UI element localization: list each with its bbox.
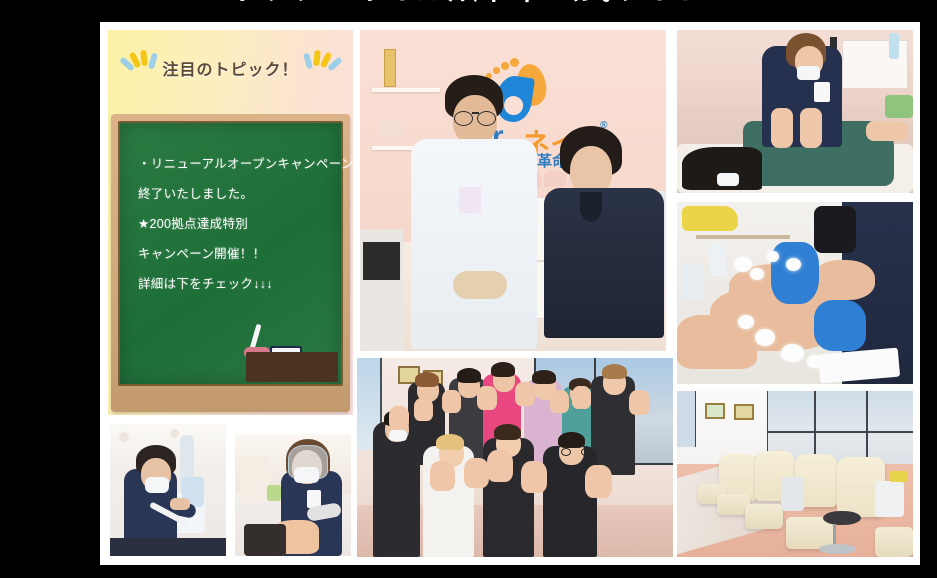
blackboard-ledge	[246, 352, 338, 382]
blackboard-line-2: 終了いたしました。	[138, 179, 331, 209]
photo-salon[interactable]	[675, 389, 915, 559]
photo-massage[interactable]	[675, 28, 915, 195]
blackboard-line-3: ★200拠点達成特別	[138, 209, 331, 239]
page-title: ドクターネイル爪革命 公式サイト	[0, 0, 937, 10]
photo-staff-portrait[interactable]: Dr. ネイル ® 爪革命	[358, 28, 668, 353]
photo-footwash[interactable]	[675, 200, 915, 386]
topic-header: 注目のトピック！	[108, 30, 353, 112]
male-staff-figure	[397, 75, 538, 351]
female-staff-nail-care-scene	[235, 434, 351, 556]
page-root: ドクターネイル爪革命 公式サイト	[0, 0, 937, 578]
featured-topic-title: 注目のトピック！	[108, 56, 353, 80]
photo-treatment-male[interactable]	[108, 422, 228, 558]
male-staff-nail-care-scene	[110, 424, 226, 556]
treatment-massage-scene	[677, 30, 913, 193]
blackboard-surface: ・リニューアルオープンキャンペーンは 終了いたしました。 ★200拠点達成特別 …	[118, 121, 343, 386]
blackboard-line-5: 詳細は下をチェック↓↓↓	[138, 269, 331, 299]
photo-group[interactable]	[355, 356, 675, 559]
foot-washing-scene	[677, 202, 913, 384]
photo-treatment-female[interactable]	[233, 432, 353, 558]
blackboard-line-1: ・リニューアルオープンキャンペーンは	[138, 149, 331, 179]
blackboard-text: ・リニューアルオープンキャンペーンは 終了いたしました。 ★200拠点達成特別 …	[138, 149, 331, 299]
clinic-entrance-scene: Dr. ネイル ® 爪革命	[360, 30, 666, 351]
content-card: 注目のトピック！ ・リニューアルオープンキャンペーンは 終了いたしました。 ★2…	[100, 22, 920, 565]
photo-grid: 注目のトピック！ ・リニューアルオープンキャンペーンは 終了いたしました。 ★2…	[100, 22, 920, 565]
blackboard-line-4: キャンペーン開催！！	[138, 239, 331, 269]
featured-topic-panel: 注目のトピック！ ・リニューアルオープンキャンペーンは 終了いたしました。 ★2…	[108, 30, 353, 415]
blackboard: ・リニューアルオープンキャンペーンは 終了いたしました。 ★200拠点達成特別 …	[111, 114, 350, 412]
female-staff-figure	[544, 126, 666, 351]
salon-interior-scene	[677, 391, 913, 557]
staff-group-scene	[357, 358, 673, 557]
